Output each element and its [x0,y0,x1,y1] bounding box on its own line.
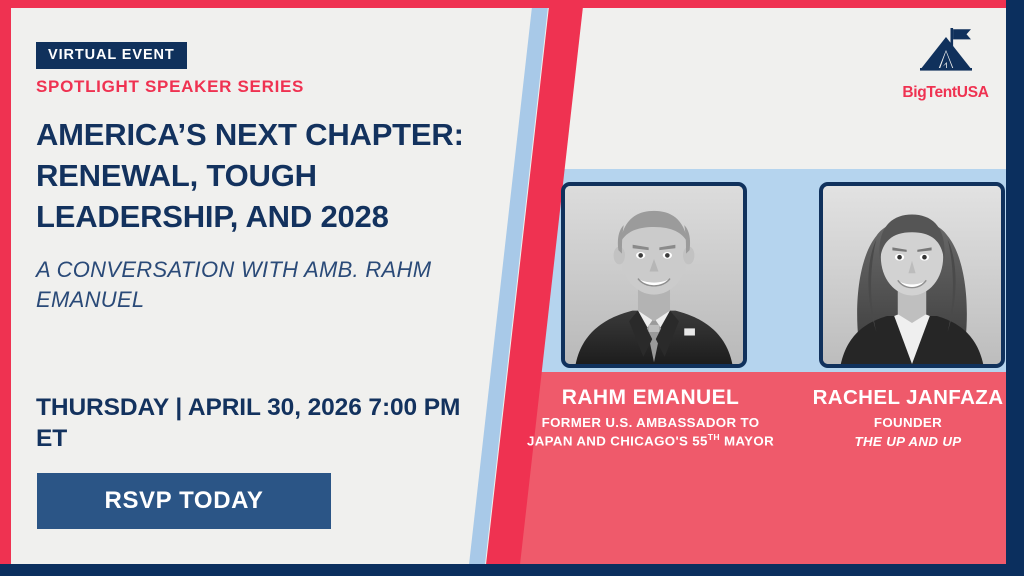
page-title: AMERICA’S NEXT CHAPTER: RENEWAL, TOUGH L… [36,114,516,238]
speaker-role: FORMER U.S. AMBASSADOR TO JAPAN AND CHIC… [508,414,793,450]
tent-icon [893,26,998,81]
brand-logo[interactable]: BigTentUSA [893,26,998,102]
border-right [1006,0,1024,576]
speaker-name: RAHM EMANUEL [508,386,793,410]
brand-name: BigTentUSA [893,84,998,102]
speaker-organization: THE UP AND UP [793,433,1023,451]
rsvp-button[interactable]: RSVP TODAY [37,473,331,529]
left-content-column: VIRTUAL EVENT SPOTLIGHT SPEAKER SERIES A… [36,0,506,576]
ordinal-suffix: TH [708,432,720,442]
speaker-role-line-2-post: MAYOR [720,433,774,448]
event-subtitle: A CONVERSATION WITH AMB. RAHM EMANUEL [36,255,476,314]
speaker-info-rahm-emanuel: RAHM EMANUEL FORMER U.S. AMBASSADOR TO J… [508,386,793,450]
speaker-role: FOUNDER [793,414,1023,432]
speaker-photo-rahm-emanuel [561,182,747,368]
speaker-role-line-1: FORMER U.S. AMBASSADOR TO [542,415,760,430]
speaker-name: RACHEL JANFAZA [793,386,1023,410]
border-left [0,0,11,576]
event-poster: VIRTUAL EVENT SPOTLIGHT SPEAKER SERIES A… [0,0,1024,576]
speaker-photo-rachel-janfaza [819,182,1005,368]
speaker-info-rachel-janfaza: RACHEL JANFAZA FOUNDER THE UP AND UP [793,386,1023,451]
speaker-role-line-2-pre: JAPAN AND CHICAGO'S 55 [527,433,708,448]
virtual-event-badge: VIRTUAL EVENT [36,42,187,69]
event-date-time: THURSDAY | APRIL 30, 2026 7:00 PM ET [36,392,476,455]
speaker-series-label: SPOTLIGHT SPEAKER SERIES [36,77,304,97]
